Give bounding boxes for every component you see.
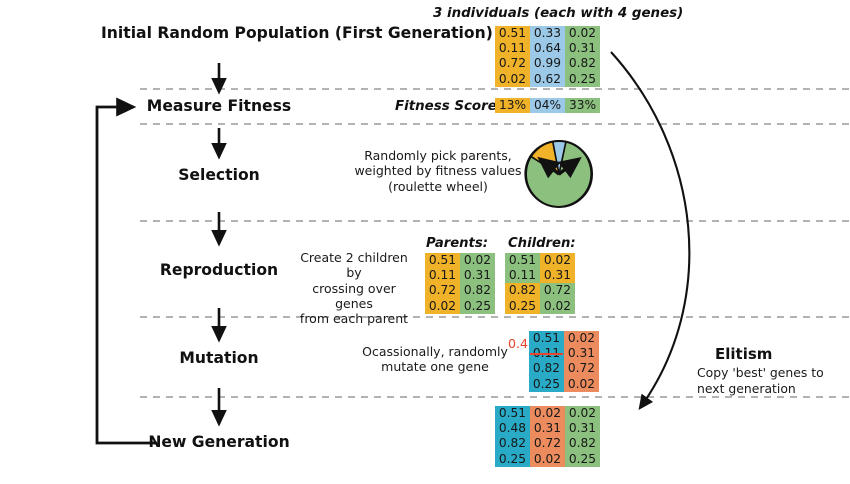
gene-cell: 0.02 [460,253,495,268]
elitism-subtitle: Copy 'best' genes to next generation [697,365,847,396]
gene-cell: 0.11 [505,268,540,283]
gene-cell: 0.72 [564,361,599,376]
fitness-score-label: Fitness Score: [395,99,502,114]
gene-cell: 0.99 [530,56,565,71]
flow-lines-layer [0,0,850,484]
stage-label-selection: Selection [139,166,299,184]
gene-cell: 0.25 [529,377,564,392]
gene-cell: 0.11 [495,41,530,56]
gene-cell: 0.31 [530,421,565,436]
parent-column-green: 0.02 0.31 0.82 0.25 [460,253,495,314]
reproduction-description: Create 2 children by crossing over genes… [294,250,414,326]
gene-cell: 0.51 [425,253,460,268]
children-grid: 0.51 0.11 0.82 0.25 0.02 0.31 0.72 0.02 [505,253,575,314]
population-grid: 0.51 0.11 0.72 0.02 0.33 0.64 0.99 0.62 … [495,26,600,87]
gene-cell: 0.02 [540,253,575,268]
gene-cell: 0.82 [460,283,495,298]
gene-cell: 0.02 [425,299,460,314]
stage-label-new-generation: New Generation [129,433,309,451]
gene-cell: 0.25 [565,452,600,467]
gene-cell: 0.25 [460,299,495,314]
gene-cell: 0.51 [495,26,530,41]
mutation-grid: 0.51 0.11 0.82 0.25 0.02 0.31 0.72 0.02 [529,331,599,392]
stage-label-initial-population: Initial Random Population (First Generat… [101,24,337,42]
selection-description: Randomly pick parents, weighted by fitne… [340,148,536,194]
gene-cell: 0.02 [495,72,530,87]
gene-cell: 0.62 [530,72,565,87]
fitness-cell: 13% [495,98,530,113]
gene-cell: 0.31 [564,346,599,361]
elitism-title: Elitism [715,345,772,363]
gene-cell: 0.02 [540,299,575,314]
child-column-two: 0.02 0.31 0.72 0.02 [540,253,575,314]
parents-caption: Parents: [426,236,488,251]
parent-column-orange: 0.51 0.11 0.72 0.02 [425,253,460,314]
population-column-blue: 0.33 0.64 0.99 0.62 [530,26,565,87]
gene-cell: 0.02 [565,406,600,421]
gene-cell: 0.02 [565,26,600,41]
gene-cell: 0.72 [495,56,530,71]
new-generation-column-salmon: 0.02 0.31 0.72 0.02 [530,406,565,467]
gene-cell: 0.31 [565,41,600,56]
gene-cell: 0.48 [495,421,530,436]
gene-cell: 0.02 [530,406,565,421]
elitism-arrow [611,52,689,408]
gene-cell: 0.82 [565,436,600,451]
gene-cell: 0.72 [425,283,460,298]
gene-cell: 0.02 [530,452,565,467]
stage-label-measure-fitness: Measure Fitness [139,97,299,115]
new-generation-column-teal: 0.51 0.48 0.82 0.25 [495,406,530,467]
roulette-wheel-pie [513,138,605,210]
gene-cell: 0.31 [565,421,600,436]
parents-grid: 0.51 0.11 0.72 0.02 0.02 0.31 0.82 0.25 [425,253,495,314]
child-column-one: 0.51 0.11 0.82 0.25 [505,253,540,314]
stage-label-reproduction: Reproduction [129,261,309,279]
mutation-column-teal: 0.51 0.11 0.82 0.25 [529,331,564,392]
population-column-orange: 0.51 0.11 0.72 0.02 [495,26,530,87]
gene-cell: 0.31 [460,268,495,283]
gene-cell: 0.51 [495,406,530,421]
new-generation-column-green: 0.02 0.31 0.82 0.25 [565,406,600,467]
population-column-green: 0.02 0.31 0.82 0.25 [565,26,600,87]
gene-cell: 0.02 [564,377,599,392]
gene-cell: 0.51 [505,253,540,268]
mutation-strikethrough [530,353,563,355]
stage-label-mutation: Mutation [139,349,299,367]
fitness-score-row: 13% 04% 33% [495,98,600,113]
new-generation-grid: 0.51 0.48 0.82 0.25 0.02 0.31 0.72 0.02 … [495,406,600,467]
mutation-description: Ocassionally, randomly mutate one gene [355,344,515,375]
gene-cell: 0.82 [495,436,530,451]
children-caption: Children: [508,236,576,251]
gene-cell: 0.82 [565,56,600,71]
gene-cell: 0.25 [565,72,600,87]
gene-cell: 0.02 [564,331,599,346]
gene-cell: 0.64 [530,41,565,56]
gene-cell: 0.82 [505,283,540,298]
genetic-algorithm-diagram: Initial Random Population (First Generat… [0,0,850,484]
gene-cell: 0.11 [425,268,460,283]
gene-cell: 0.25 [495,452,530,467]
fitness-cell: 33% [565,98,600,113]
gene-cell: 0.31 [540,268,575,283]
gene-cell: 0.72 [530,436,565,451]
gene-cell: 0.72 [540,283,575,298]
fitness-cell: 04% [530,98,565,113]
mutation-column-salmon: 0.02 0.31 0.72 0.02 [564,331,599,392]
gene-cell: 0.25 [505,299,540,314]
population-caption: 3 individuals (each with 4 genes) [433,6,683,21]
gene-cell: 0.33 [530,26,565,41]
gene-cell: 0.82 [529,361,564,376]
gene-cell: 0.51 [529,331,564,346]
